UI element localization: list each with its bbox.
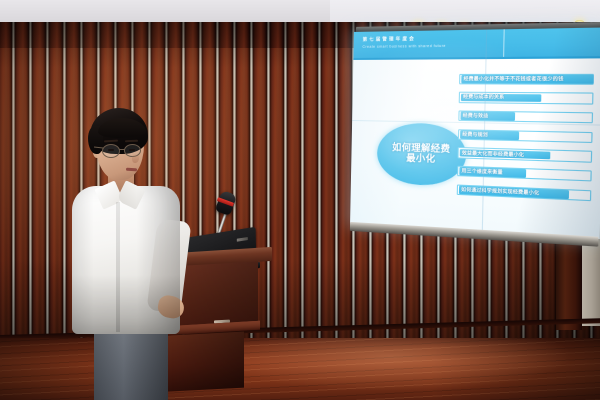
lecture-hall-scene: 第七届管理年度会 Create smart business with shar… bbox=[0, 0, 600, 400]
screen-surface: 第七届管理年度会 Create smart business with shar… bbox=[350, 27, 600, 239]
glasses-bridge bbox=[119, 149, 125, 150]
laptop-logo-secondary bbox=[237, 237, 248, 242]
slide-bullet-row: 如何通过科学规划实现经费最小化 bbox=[457, 184, 592, 201]
slide-bullet-list: 经费最小化并不等于不花钱或者花很少的钱经费与成本的关系经费与效益经费与规划效益最… bbox=[457, 73, 594, 209]
slide-header-title-en: Create smart business with shared future bbox=[362, 44, 446, 49]
projection-screen: 第七届管理年度会 Create smart business with shar… bbox=[350, 27, 600, 239]
slide-bullet-row: 经费与成本的关系 bbox=[459, 92, 594, 104]
slide-header: 第七届管理年度会 Create smart business with shar… bbox=[353, 27, 600, 57]
slide-body: 如何理解经费 最小化 经费最小化并不等于不花钱或者花很少的钱经费与成本的关系经费… bbox=[350, 58, 600, 239]
slide-bullet-row: 用三个维度来衡量 bbox=[457, 166, 592, 182]
slide-bullet-text: 经费最小化并不等于不花钱或者花很少的钱 bbox=[463, 76, 563, 83]
oval-line-2: 最小化 bbox=[406, 153, 435, 166]
nose bbox=[132, 153, 139, 163]
presenter-trousers-shading bbox=[94, 328, 168, 400]
slide-bullet-row: 经费最小化并不等于不花钱或者花很少的钱 bbox=[459, 73, 594, 85]
slide-bullet-row: 效益最大化而非经费最小化 bbox=[458, 147, 593, 162]
slide-bullet-row: 经费与规划 bbox=[458, 129, 593, 143]
shirt-placket bbox=[116, 202, 120, 332]
slide-header-divider bbox=[503, 29, 505, 57]
slide-topic-oval: 如何理解经费 最小化 bbox=[377, 122, 467, 186]
slide-header-title-cn: 第七届管理年度会 bbox=[363, 36, 416, 43]
